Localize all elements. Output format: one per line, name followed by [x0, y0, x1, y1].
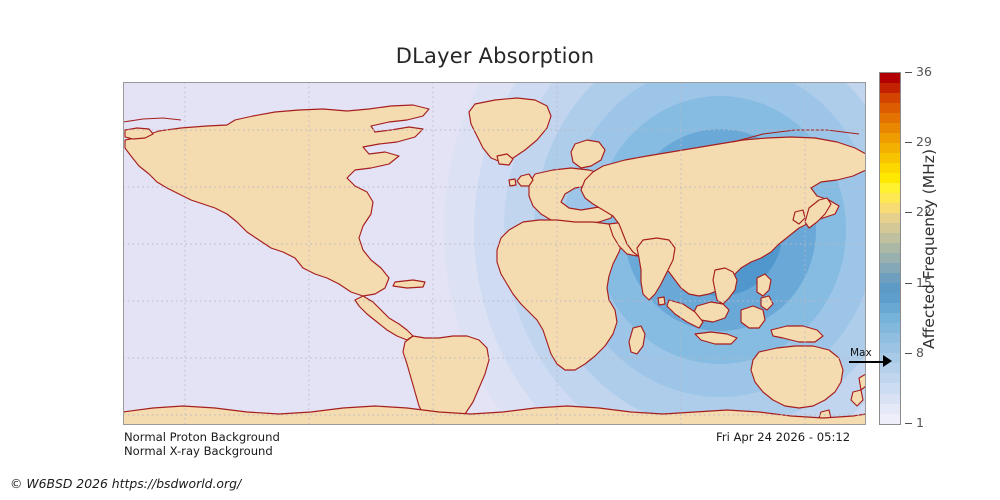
figure-canvas: DLayer Absorption	[0, 0, 1000, 500]
colorbar-segment	[880, 243, 900, 253]
colorbar-tick-mark	[905, 423, 912, 424]
colorbar-tick-mark	[905, 353, 912, 354]
copyright-footer: © W6BSD 2026 https://bsdworld.org/	[10, 476, 241, 491]
colorbar-segment	[880, 373, 900, 383]
colorbar-segment	[880, 113, 900, 123]
colorbar-segment	[880, 133, 900, 143]
colorbar-tick-mark	[905, 142, 912, 143]
timestamp: Fri Apr 24 2026 - 05:12	[716, 430, 850, 444]
colorbar-axis-label-text: Affected Frequency (MHz)	[920, 149, 938, 349]
max-marker: Max	[849, 351, 905, 373]
colorbar-segment	[880, 183, 900, 193]
colorbar-segment	[880, 163, 900, 173]
colorbar-tick-mark	[905, 212, 912, 213]
colorbar-segment	[880, 213, 900, 223]
colorbar-segment	[880, 313, 900, 323]
colorbar-segment	[880, 303, 900, 313]
colorbar-segment	[880, 203, 900, 213]
map-svg	[123, 82, 866, 425]
world-map[interactable]	[123, 82, 866, 425]
page-title: DLayer Absorption	[0, 44, 990, 68]
colorbar-segment	[880, 383, 900, 393]
colorbar-segment	[880, 293, 900, 303]
proton-background-note: Normal Proton Background	[124, 430, 280, 445]
colorbar-segment	[880, 394, 900, 404]
colorbar-segment	[880, 414, 900, 424]
colorbar-segment	[880, 233, 900, 243]
colorbar-segment	[880, 103, 900, 113]
colorbar-segment	[880, 73, 900, 83]
colorbar-segment	[880, 283, 900, 293]
colorbar-segment	[880, 404, 900, 414]
colorbar-axis-label: Affected Frequency (MHz)	[916, 72, 942, 425]
colorbar-segment	[880, 173, 900, 183]
xray-background-note: Normal X-ray Background	[124, 444, 273, 459]
colorbar-segment	[880, 83, 900, 93]
colorbar-segment	[880, 123, 900, 133]
colorbar-segment	[880, 93, 900, 103]
colorbar-segment	[880, 223, 900, 233]
max-marker-label: Max	[850, 347, 872, 359]
colorbar-segment	[880, 263, 900, 273]
colorbar-segment	[880, 153, 900, 163]
colorbar-segment	[880, 253, 900, 263]
colorbar-segment	[880, 143, 900, 153]
max-marker-arrow-line	[849, 361, 887, 363]
colorbar-segment	[880, 193, 900, 203]
colorbar-tick-mark	[905, 283, 912, 284]
colorbar-segment	[880, 333, 900, 343]
colorbar-segment	[880, 323, 900, 333]
colorbar[interactable]: 1815222936 Max	[879, 72, 901, 425]
colorbar-tick-mark	[905, 72, 912, 73]
max-marker-arrow-head	[883, 355, 892, 367]
colorbar-segment	[880, 273, 900, 283]
